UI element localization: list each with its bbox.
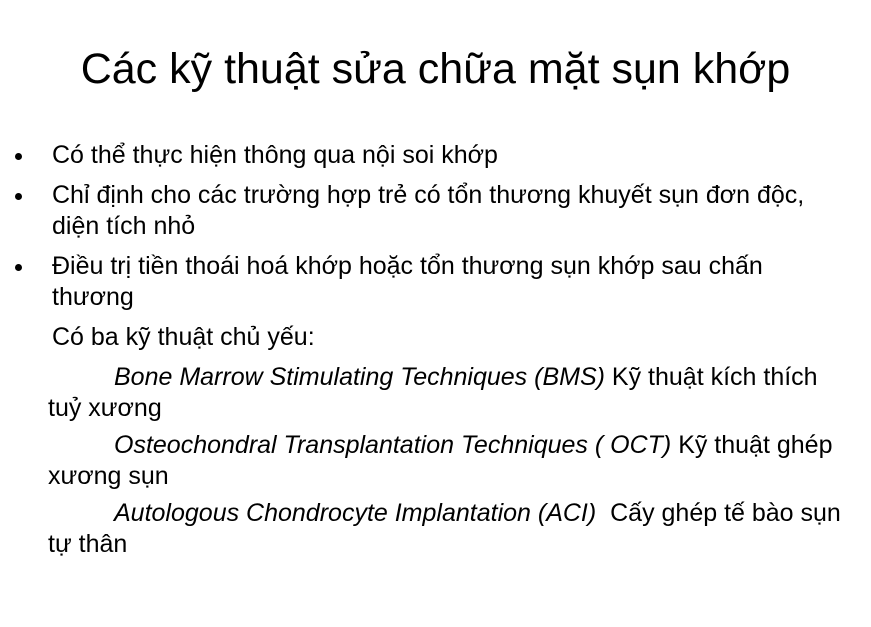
technique-item: Bone Marrow Stimulating Techniques (BMS)… [0,362,871,424]
list-item-text: Điều trị tiền thoái hoá khớp hoặc tổn th… [52,251,841,313]
list-item: Có thể thực hiện thông qua nội soi khớp [0,140,871,171]
technique-term: Autologous Chondrocyte Implantation (ACI… [114,499,596,527]
slide-body: Có thể thực hiện thông qua nội soi khớp … [0,140,871,566]
slide-canvas: Các kỹ thuật sửa chữa mặt sụn khớp Có th… [0,0,871,627]
technique-separator [605,363,612,391]
technique-item: Autologous Chondrocyte Implantation (ACI… [0,498,871,560]
technique-term: Bone Marrow Stimulating Techniques (BMS) [114,363,605,391]
technique-item: Osteochondral Transplantation Techniques… [0,430,871,492]
list-item-text: Có thể thực hiện thông qua nội soi khớp [52,140,841,171]
list-item: Điều trị tiền thoái hoá khớp hoặc tổn th… [0,251,871,313]
bullet-dot-icon [15,264,22,271]
technique-term: Osteochondral Transplantation Techniques… [114,431,671,459]
page-title: Các kỹ thuật sửa chữa mặt sụn khớp [0,43,871,95]
sub-heading-text: Có ba kỹ thuật chủ yếu: [52,322,841,353]
list-item-text: Chỉ định cho các trường hợp trẻ có tổn t… [52,180,841,242]
bullet-dot-icon [15,153,22,160]
list-item: Chỉ định cho các trường hợp trẻ có tổn t… [0,180,871,242]
sub-heading: Có ba kỹ thuật chủ yếu: [0,322,871,353]
bullet-dot-icon [15,193,22,200]
technique-separator [596,499,610,527]
